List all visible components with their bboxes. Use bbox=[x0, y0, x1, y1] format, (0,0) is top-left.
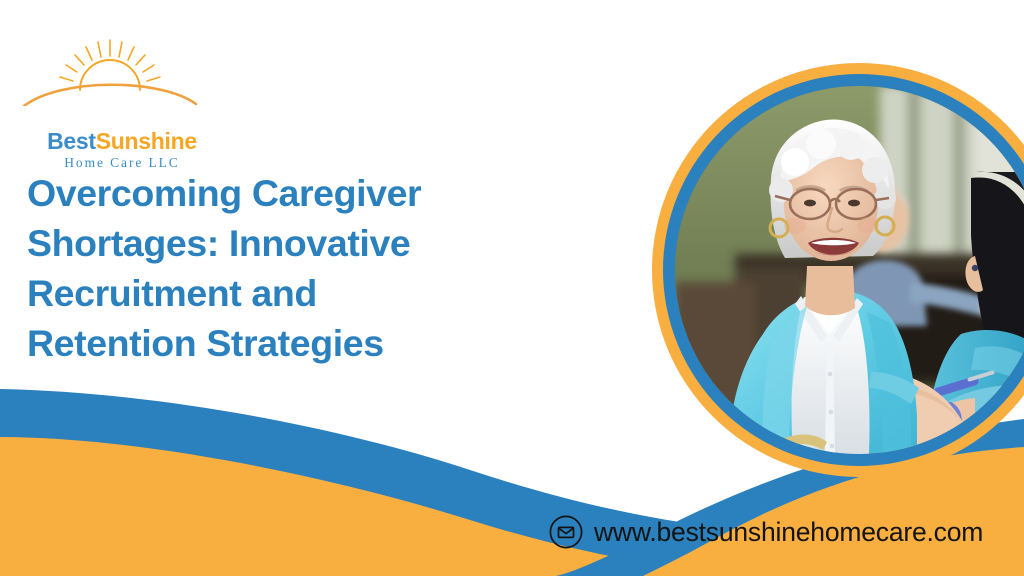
marketing-banner: BestSunshine Home Care LLC Overcoming Ca… bbox=[0, 0, 1024, 576]
wave-orange-main bbox=[0, 437, 700, 576]
hero-photo bbox=[675, 86, 1024, 454]
headline-line-1: Overcoming Caregiver bbox=[27, 168, 572, 218]
sunshine-hill-icon bbox=[20, 34, 200, 106]
logo-name-line: BestSunshine bbox=[42, 130, 202, 153]
envelope-icon bbox=[549, 515, 583, 549]
logo-sunshine-text: Sunshine bbox=[96, 128, 197, 154]
website-link[interactable]: www.bestsunshinehomecare.com bbox=[549, 515, 983, 549]
website-url-text: www.bestsunshinehomecare.com bbox=[594, 519, 983, 546]
headline-line-4: Retention Strategies bbox=[27, 318, 572, 368]
page-title: Overcoming Caregiver Shortages: Innovati… bbox=[27, 168, 572, 368]
wave-white-notch bbox=[455, 448, 556, 494]
photo-inner-ring-blue bbox=[663, 74, 1024, 466]
caregiver-photo-illustration bbox=[675, 86, 1024, 454]
logo-best-text: Best bbox=[47, 128, 96, 154]
brand-logo[interactable]: BestSunshine Home Care LLC bbox=[20, 34, 200, 144]
photo-outer-ring-orange bbox=[652, 63, 1024, 477]
logo-wordmark: BestSunshine Home Care LLC bbox=[42, 130, 202, 170]
headline-line-3: Recruitment and bbox=[27, 268, 572, 318]
headline-line-2: Shortages: Innovative bbox=[27, 218, 572, 268]
